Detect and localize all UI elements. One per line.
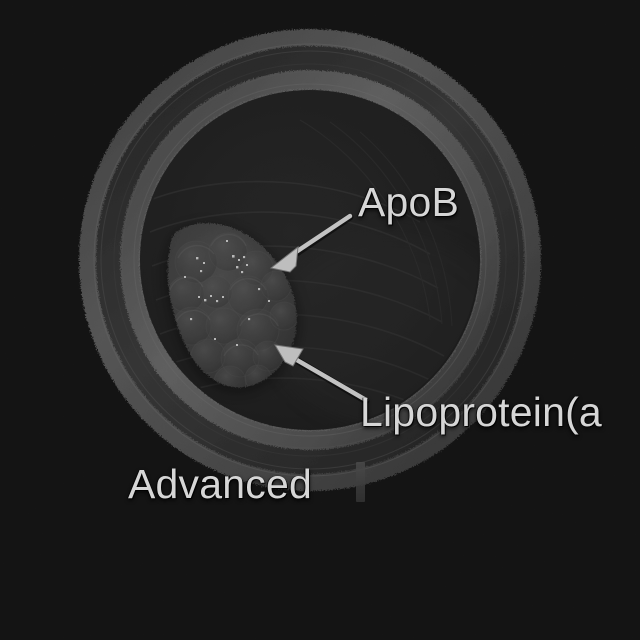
film-grain-overlay	[0, 0, 640, 640]
vessel-illustration	[0, 0, 640, 640]
clipped-glyph-stub	[356, 462, 365, 502]
artery-cross-section-image: ApoB Lipoprotein(a Advanced	[0, 0, 640, 640]
label-lipoprotein-a: Lipoprotein(a	[360, 392, 602, 433]
label-advanced: Advanced	[128, 464, 312, 505]
label-apob: ApoB	[358, 182, 459, 223]
vessel-svg	[0, 0, 640, 640]
